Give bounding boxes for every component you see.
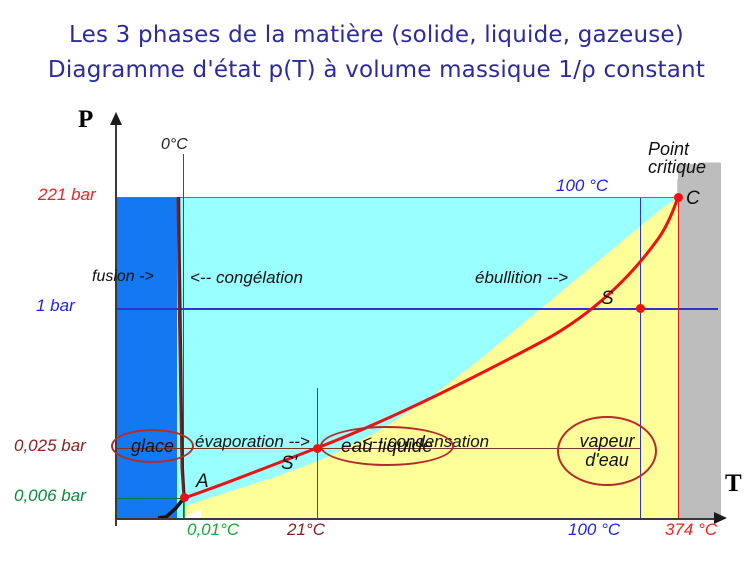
point-marker-critical-point [674,193,683,202]
point-marker-triple-point [180,493,189,502]
critical-point-caption-line-1: Point [648,140,706,158]
tick-label-001-celsius: 0,01°C [187,520,239,540]
region-label-vapeur-line-2: d'eau [579,451,634,470]
region-label-eau-liquide: eau liquide [320,426,454,466]
annotation-congelation: <-- congélation [190,268,303,288]
tick-label-100-celsius-top: 100 °C [556,176,608,196]
tick-label-1-bar: 1 bar [36,296,75,316]
y-axis-arrow-icon [110,112,122,125]
tick-label-0006-bar: 0,006 bar [14,486,86,506]
critical-point-caption-line-2: critique [648,158,706,176]
region-label-vapeur-deau: vapeur d'eau [557,416,657,486]
phase-diagram: P T 221 bar 1 bar 0,025 bar 0,006 bar 0°… [0,108,753,565]
tick-label-221-bar: 221 bar [38,185,96,205]
page-title-line-2: Diagramme d'état p(T) à volume massique … [0,57,753,83]
point-marker-s [636,304,645,313]
tick-label-100-celsius-bottom: 100 °C [568,520,620,540]
annotation-evaporation: évaporation --> [195,432,310,452]
critical-point-caption: Point critique [648,140,706,176]
title-block: Les 3 phases de la matière (solide, liqu… [0,22,753,83]
point-label-c: C [686,188,700,210]
point-label-a: A [196,471,209,493]
region-label-glace: glace [111,429,194,463]
sublimation-curve [158,498,184,518]
point-label-s-prime: S' [281,453,297,475]
region-label-vapeur-line-1: vapeur [579,432,634,451]
annotation-fusion: fusion -> [92,268,154,286]
equilibrium-curves [0,108,753,565]
annotation-ebullition: ébullition --> [475,268,568,288]
page-title-line-1: Les 3 phases de la matière (solide, liqu… [0,22,753,48]
tick-label-0025-bar: 0,025 bar [14,436,86,456]
y-axis-label: P [78,106,93,134]
x-axis-label: T [725,470,742,498]
point-label-s: S [601,288,614,310]
tick-label-21-celsius: 21°C [287,520,325,540]
tick-label-0-celsius: 0°C [161,136,188,154]
tick-label-374-celsius: 374 °C [665,520,717,540]
y-axis [115,122,117,526]
